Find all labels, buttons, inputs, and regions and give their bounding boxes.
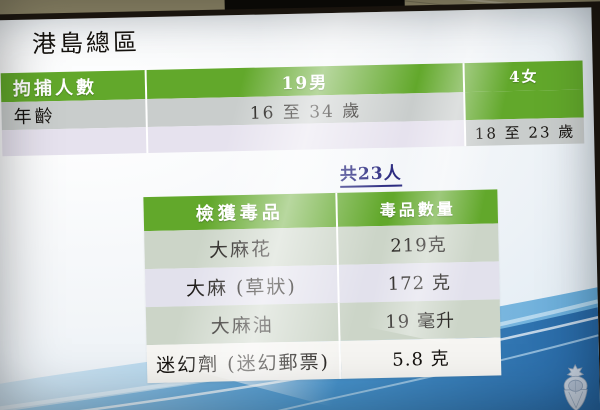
police-emblem-icon [555, 361, 596, 410]
police-emblem-svg [555, 361, 596, 410]
drug-name: 迷幻劑 (迷幻郵票) [147, 341, 342, 383]
filler-cell-left [2, 127, 149, 156]
projector-screen-surface: 港島總區 拘捕人數 19男 4女 年齡 16 至 34 歲 18 至 23 歲 [0, 7, 600, 410]
drug-quantity: 219克 [338, 223, 499, 264]
table-row: 迷幻劑 (迷幻郵票) 5.8 克 [147, 337, 502, 383]
arrest-table: 拘捕人數 19男 4女 年齡 16 至 34 歲 18 至 23 歲 [1, 61, 585, 157]
drug-quantity-header: 毒品數量 [337, 189, 498, 226]
slide-content: 港島總區 拘捕人數 19男 4女 年齡 16 至 34 歲 18 至 23 歲 [0, 7, 600, 410]
drug-quantity: 5.8 克 [341, 337, 502, 378]
drug-quantity: 172 克 [339, 261, 500, 302]
filler-cell-middle [148, 120, 466, 153]
arrest-female-count: 4女 [465, 61, 584, 93]
drug-name: 大麻油 [146, 303, 341, 345]
photo-of-projected-slide: 港島總區 拘捕人數 19男 4女 年齡 16 至 34 歲 18 至 23 歲 [0, 0, 600, 410]
drug-quantity: 19 毫升 [340, 299, 501, 340]
age-label: 年齡 [1, 99, 148, 130]
total-arrested-note: 共23人 [340, 159, 402, 188]
seized-drugs-table: 檢獲毒品 毒品數量 大麻花 219克 大麻 (草狀) 172 克 大麻油 19 … [143, 189, 501, 383]
female-header-spill [465, 90, 584, 121]
drug-name-header: 檢獲毒品 [143, 193, 338, 231]
slide-title: 港島總區 [32, 22, 141, 59]
drug-name: 大麻 (草狀) [145, 265, 340, 307]
age-range-female: 18 至 23 歲 [466, 118, 585, 147]
arrest-count-label: 拘捕人數 [1, 70, 148, 102]
drug-name: 大麻花 [144, 227, 339, 269]
